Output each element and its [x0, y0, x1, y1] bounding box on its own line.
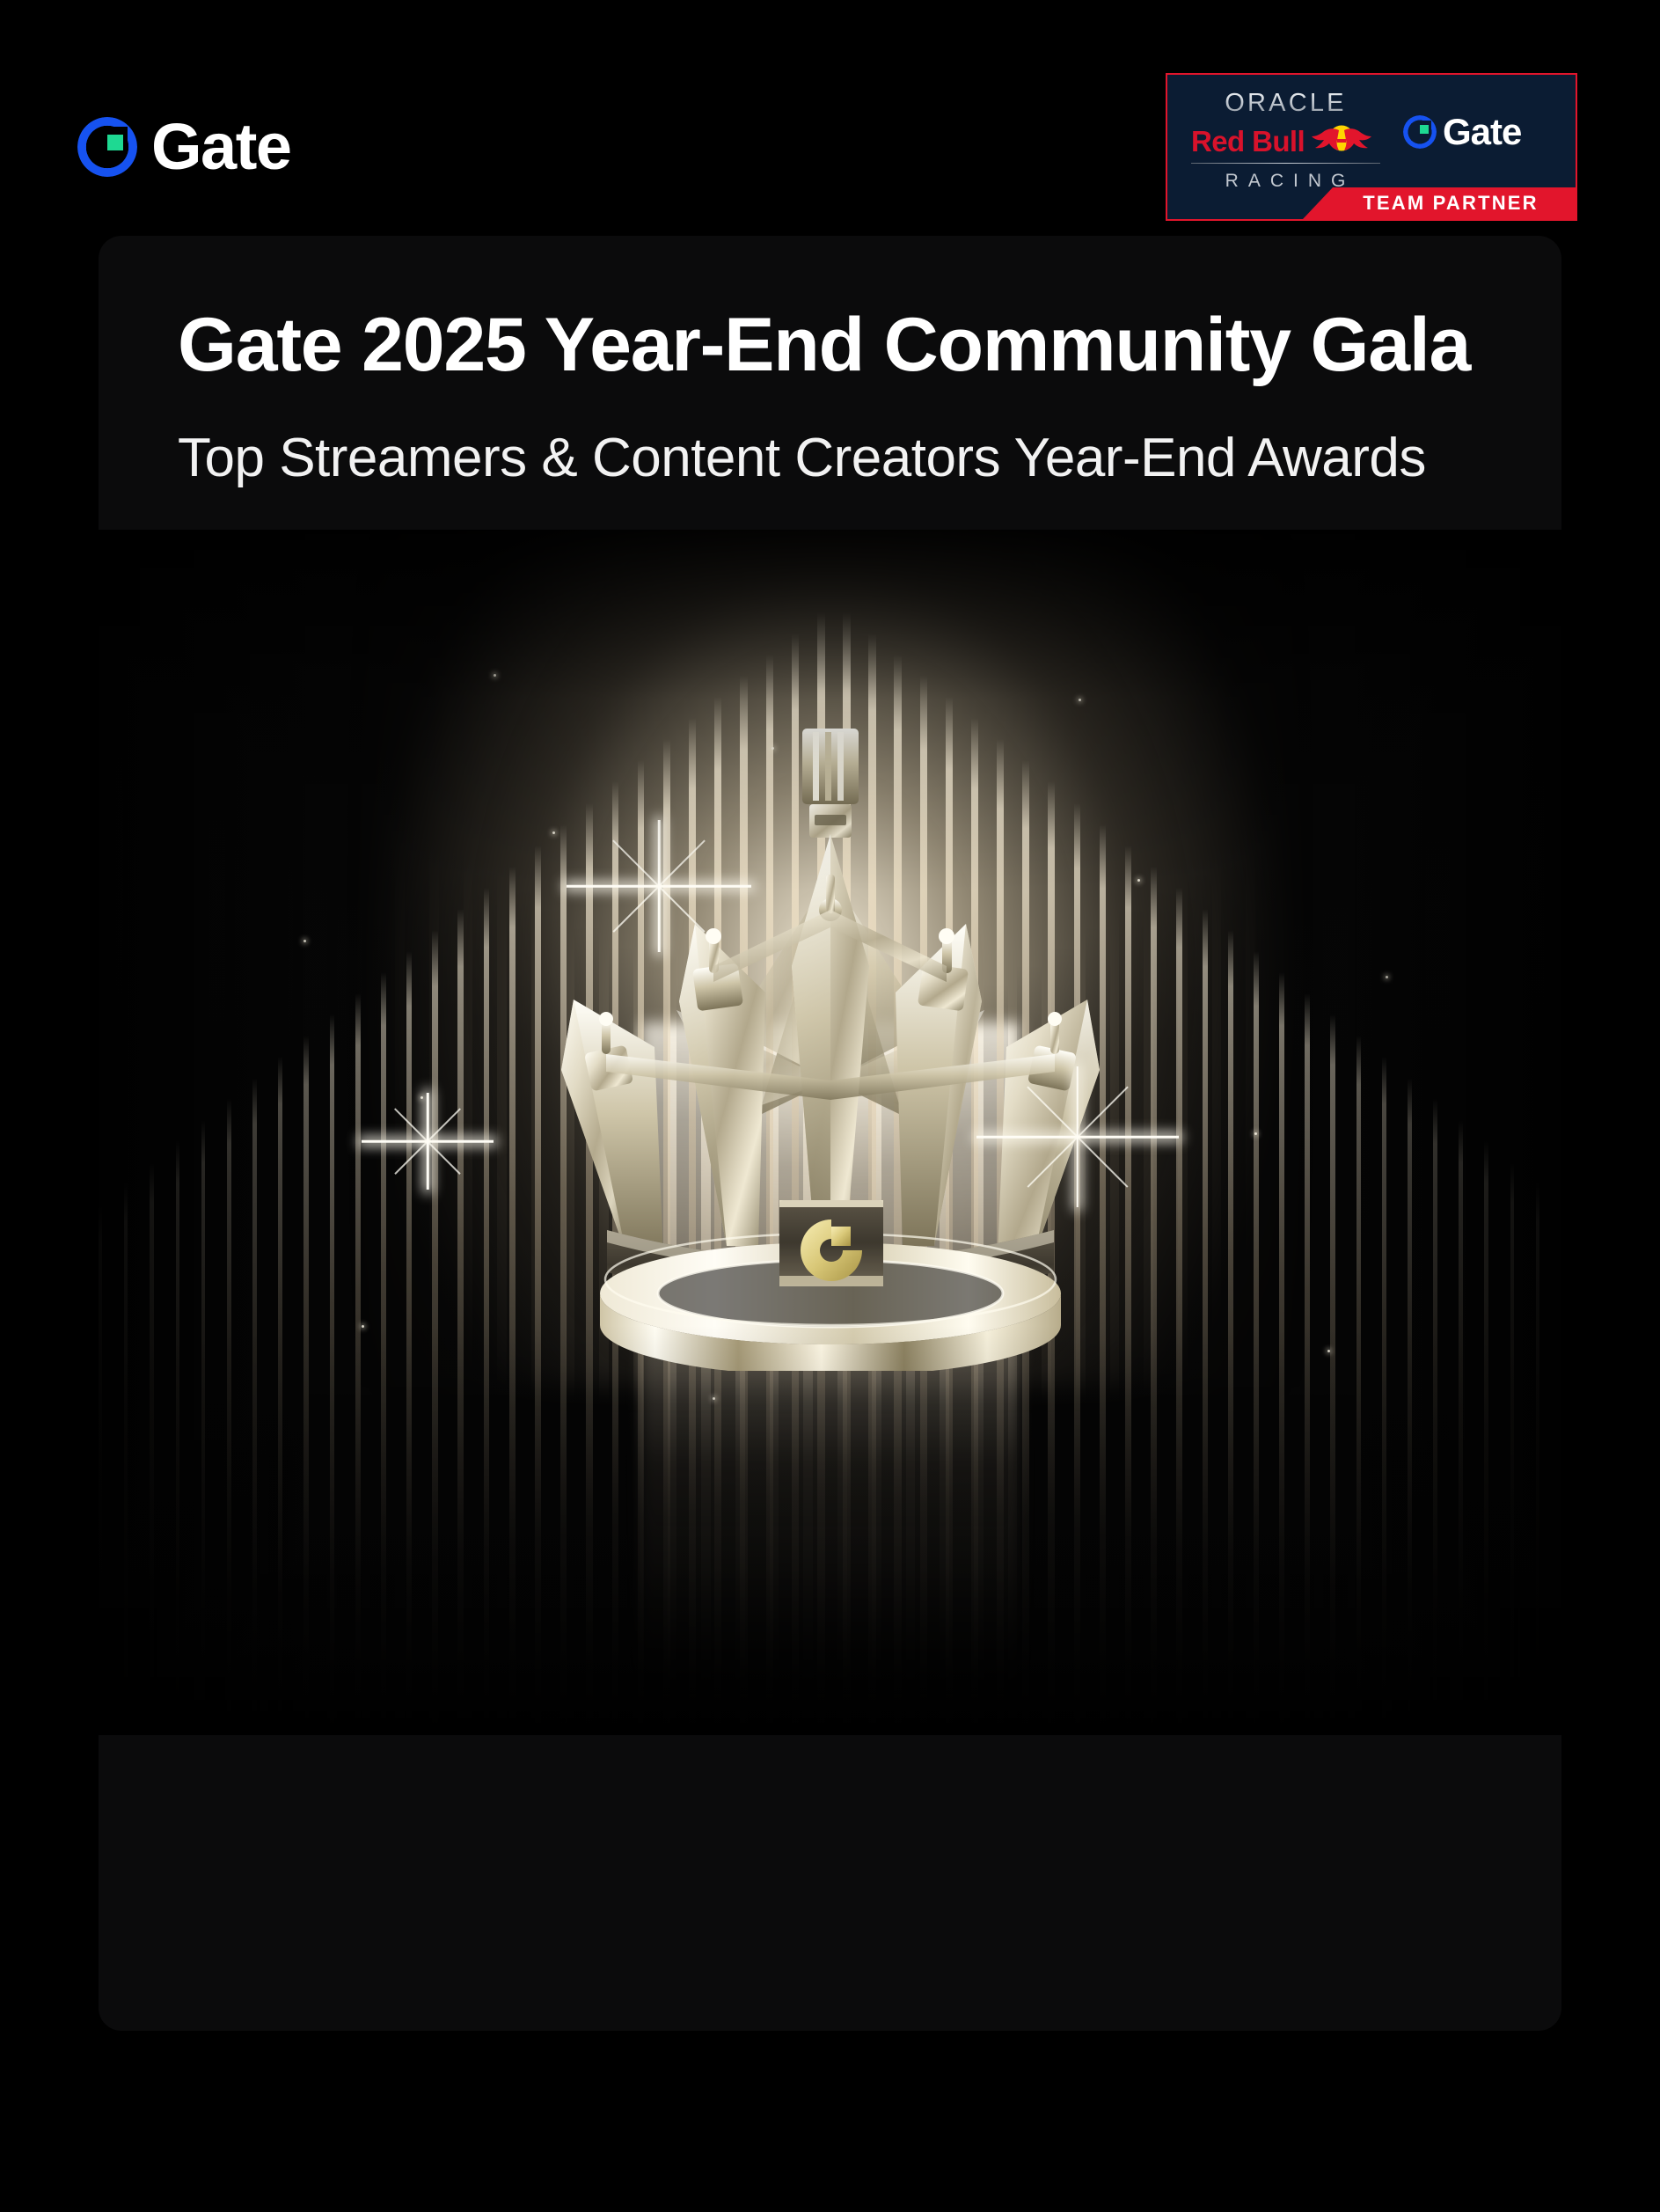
racing-wordmark: RACING	[1191, 172, 1380, 190]
announcement-card: Gate 2025 Year-End Community Gala Top St…	[99, 236, 1561, 2031]
red-bull-wordmark: Red Bull	[1191, 127, 1305, 156]
oracle-wordmark: ORACLE	[1191, 91, 1380, 116]
gate-brand-logo[interactable]: Gate	[77, 114, 291, 179]
partner-gate-wordmark: Gate	[1443, 114, 1521, 150]
gate-wordmark: Gate	[151, 114, 291, 179]
team-partner-badge[interactable]: ORACLE Red Bull RACING	[1166, 73, 1577, 221]
announcement-page: Gate ORACLE Red Bull	[0, 0, 1660, 2212]
badge-divider	[1191, 163, 1380, 164]
page-header: Gate ORACLE Red Bull	[0, 0, 1660, 236]
page-title: Gate 2025 Year-End Community Gala	[178, 301, 1482, 390]
crown-trophy-icon	[523, 702, 1138, 1371]
hero-illustration	[99, 530, 1561, 1735]
red-bull-racing-lockup: ORACLE Red Bull RACING	[1191, 91, 1380, 190]
page-subtitle: Top Streamers & Content Creators Year-En…	[178, 427, 1482, 491]
gate-logo-icon	[77, 117, 137, 177]
card-text-block: Gate 2025 Year-End Community Gala Top St…	[99, 236, 1561, 491]
partner-gate-logo: Gate	[1403, 114, 1521, 150]
red-bull-bulls-icon	[1308, 123, 1375, 158]
team-partner-ribbon: TEAM PARTNER	[1303, 187, 1576, 219]
gate-logo-icon	[1403, 115, 1437, 149]
team-partner-label: TEAM PARTNER	[1363, 194, 1539, 213]
